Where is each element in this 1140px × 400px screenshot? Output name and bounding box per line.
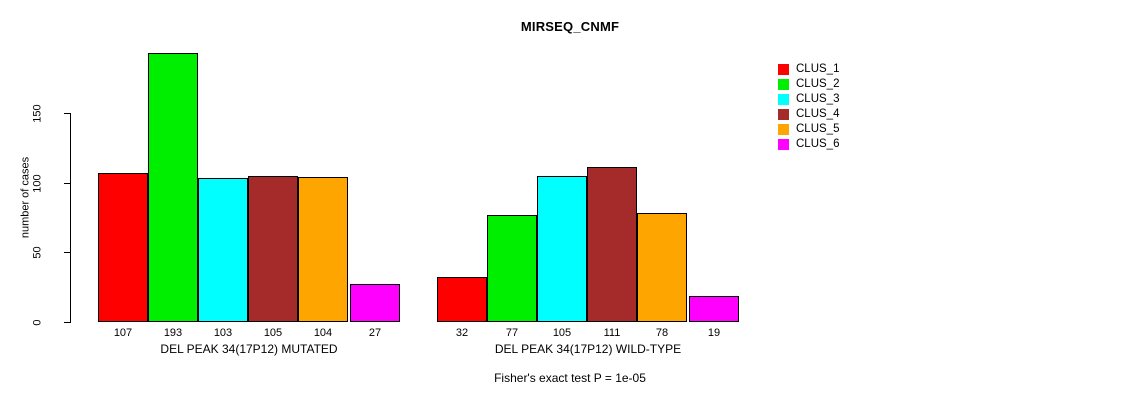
bar-value-label: 78 [637, 328, 687, 339]
chart-title: MIRSEQ_CNMF [0, 19, 1140, 34]
bar-clus_4-group2 [587, 167, 637, 322]
legend-swatch-icon [778, 124, 789, 135]
legend: CLUS_1CLUS_2CLUS_3CLUS_4CLUS_5CLUS_6 [778, 62, 839, 152]
bar-clus_1-group1 [98, 173, 148, 322]
legend-swatch-icon [778, 79, 789, 90]
legend-item-clus_3[interactable]: CLUS_3 [778, 92, 839, 107]
legend-swatch-icon [778, 139, 789, 150]
legend-item-clus_4[interactable]: CLUS_4 [778, 107, 839, 122]
legend-item-label: CLUS_2 [796, 79, 839, 90]
bar-value-label: 107 [98, 328, 148, 339]
bar-clus_5-group2 [637, 213, 687, 322]
bar-value-label: 77 [487, 328, 537, 339]
legend-item-clus_2[interactable]: CLUS_2 [778, 77, 839, 92]
y-axis-tick [64, 113, 71, 114]
bar-value-label: 19 [689, 328, 739, 339]
bar-clus_2-group1 [148, 53, 198, 322]
bar-value-label: 32 [437, 328, 487, 339]
bar-clus_3-group1 [198, 178, 248, 322]
group-label: DEL PEAK 34(17P12) WILD-TYPE [437, 342, 739, 356]
legend-swatch-icon [778, 94, 789, 105]
y-axis-tick [64, 322, 71, 323]
legend-item-label: CLUS_6 [796, 139, 839, 150]
legend-item-label: CLUS_5 [796, 124, 839, 135]
legend-item-label: CLUS_1 [796, 64, 839, 75]
bar-value-label: 111 [587, 328, 637, 339]
legend-swatch-icon [778, 64, 789, 75]
legend-item-clus_5[interactable]: CLUS_5 [778, 122, 839, 137]
y-axis-line [70, 114, 71, 323]
bar-value-label: 105 [248, 328, 298, 339]
bar-clus_5-group1 [298, 177, 348, 322]
bar-clus_3-group2 [537, 176, 587, 322]
legend-item-label: CLUS_4 [796, 109, 839, 120]
bar-value-label: 105 [537, 328, 587, 339]
y-axis-tick [64, 183, 71, 184]
y-axis-title: number of cases [21, 138, 32, 258]
bar-value-label: 27 [350, 328, 400, 339]
bar-clus_4-group1 [248, 176, 298, 322]
y-axis-tick-label: 50 [33, 233, 44, 273]
y-axis-tick [64, 252, 71, 253]
bar-chart-figure: MIRSEQ_CNMF 050100150 number of cases 10… [0, 0, 1140, 400]
legend-swatch-icon [778, 109, 789, 120]
y-axis-tick-label: 0 [33, 303, 44, 343]
bar-clus_6-group2 [689, 296, 739, 322]
legend-item-clus_1[interactable]: CLUS_1 [778, 62, 839, 77]
legend-item-label: CLUS_3 [796, 94, 839, 105]
legend-item-clus_6[interactable]: CLUS_6 [778, 137, 839, 152]
bar-clus_1-group2 [437, 277, 487, 322]
bar-clus_2-group2 [487, 215, 537, 322]
y-axis-tick-label: 100 [33, 163, 44, 203]
bar-value-label: 104 [298, 328, 348, 339]
bar-clus_6-group1 [350, 284, 400, 322]
bar-value-label: 103 [198, 328, 248, 339]
y-axis-tick-label: 150 [33, 94, 44, 134]
statistical-test-annotation: Fisher's exact test P = 1e-05 [0, 371, 1140, 385]
group-label: DEL PEAK 34(17P12) MUTATED [98, 342, 400, 356]
bar-value-label: 193 [148, 328, 198, 339]
